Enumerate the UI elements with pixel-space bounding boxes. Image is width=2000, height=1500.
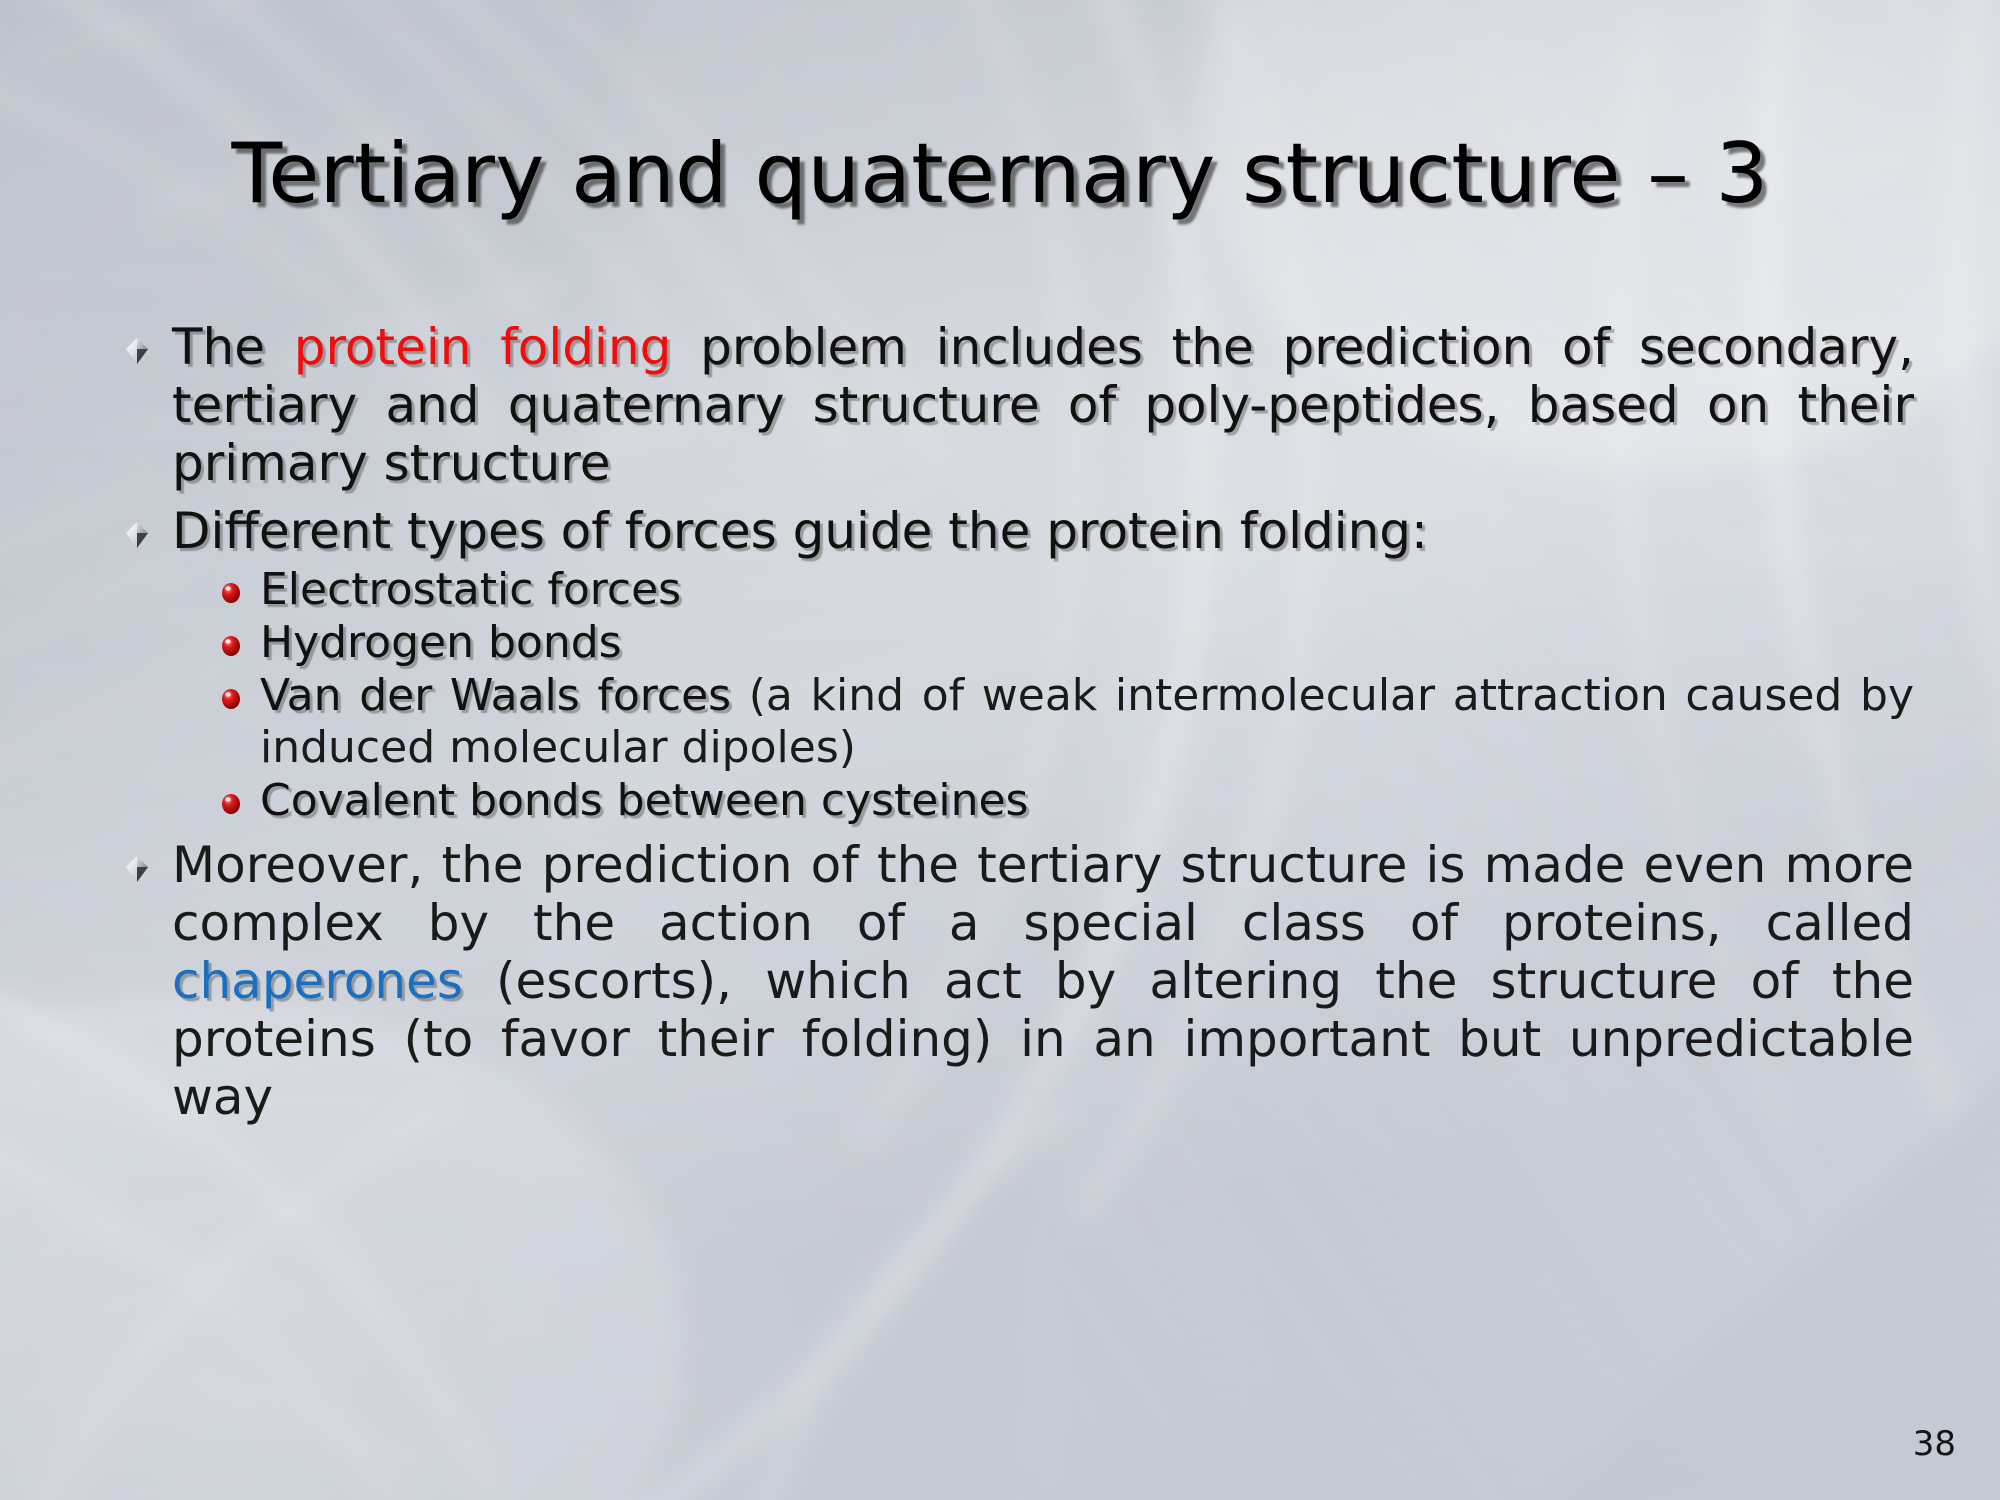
sub-bullet-label: Van der Waals forces <box>260 670 731 721</box>
bullet1-pre: The <box>172 318 294 376</box>
red-sphere-bullet-icon <box>220 633 242 657</box>
list-item: Electrostatic forces <box>124 564 1914 617</box>
diamond-arrow-bullet-icon <box>124 520 150 550</box>
page-title: Tertiary and quaternary structure – 3 <box>0 132 2000 215</box>
red-sphere-bullet-icon <box>220 686 242 710</box>
sub-bullet-label: Covalent bonds between cysteines <box>260 775 1028 826</box>
keyword-protein-folding: protein folding <box>294 318 672 376</box>
bullet-item-protein-folding: The protein folding problem includes the… <box>124 318 1914 492</box>
list-item: Hydrogen bonds <box>124 617 1914 670</box>
sub-bullet-label: Electrostatic forces <box>260 564 681 615</box>
red-sphere-bullet-icon <box>220 791 242 815</box>
sub-bullet-list: Electrostatic forces Hydrogen bonds <box>124 564 1914 828</box>
bullet-text-chaperones: Moreover, the prediction of the tertiary… <box>172 836 1914 1126</box>
list-item: Covalent bonds between cysteines <box>124 775 1914 828</box>
list-item: Van der Waals forces (a kind of weak int… <box>124 670 1914 776</box>
sub-bullet-text: Hydrogen bonds <box>260 617 1914 670</box>
page-number: 38 <box>1913 1424 1956 1464</box>
bullet-text-protein-folding: The protein folding problem includes the… <box>172 318 1914 492</box>
sub-bullet-text: Covalent bonds between cysteines <box>260 775 1914 828</box>
diamond-arrow-bullet-icon <box>124 336 150 366</box>
diamond-arrow-bullet-icon <box>124 854 150 884</box>
sub-bullet-text: Van der Waals forces (a kind of weak int… <box>260 670 1914 776</box>
bullet-item-chaperones: Moreover, the prediction of the tertiary… <box>124 836 1914 1126</box>
sub-bullet-text: Electrostatic forces <box>260 564 1914 617</box>
bullet-item-forces: Different types of forces guide the prot… <box>124 502 1914 560</box>
slide-canvas: Tertiary and quaternary structure – 3 <box>0 0 2000 1500</box>
slide-body: The protein folding problem includes the… <box>124 318 1914 1126</box>
keyword-chaperones: chaperones <box>172 952 463 1010</box>
bullet3-pre: Moreover, the prediction of the tertiary… <box>172 836 1914 952</box>
red-sphere-bullet-icon <box>220 580 242 604</box>
bullet-text-forces: Different types of forces guide the prot… <box>172 502 1914 560</box>
sub-bullet-label: Hydrogen bonds <box>260 617 622 668</box>
